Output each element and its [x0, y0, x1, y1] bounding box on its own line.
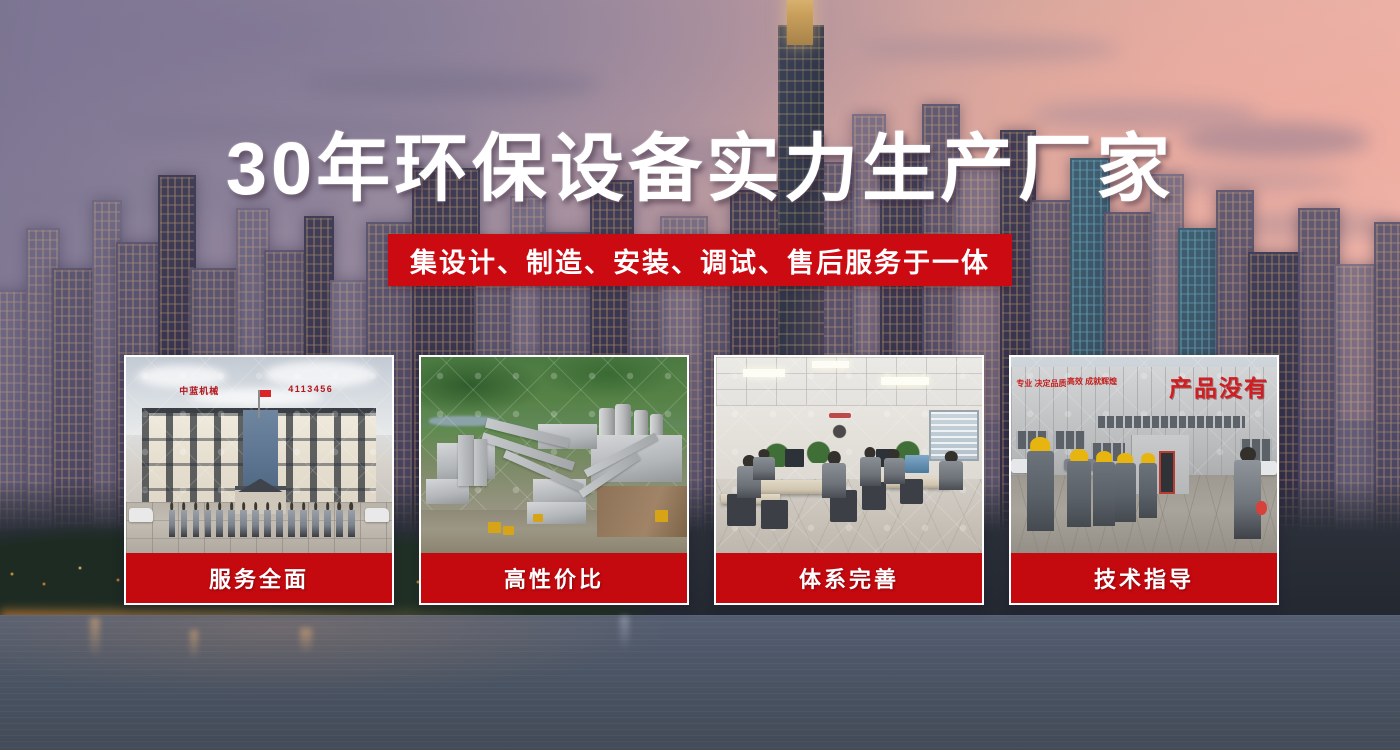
office-worker: [884, 449, 905, 484]
staff-member: [216, 502, 222, 537]
feature-card-row: 中蓝机械 4113456: [124, 355, 1279, 605]
office-chair: [727, 494, 756, 525]
card-label-bar: 技术指导: [1011, 553, 1277, 603]
flagpole: [258, 390, 260, 417]
staff-member: [324, 502, 330, 537]
staff-member: [264, 502, 270, 537]
factory-worker: [1139, 453, 1158, 518]
industrial-plant-aerial-photo: [421, 357, 687, 553]
factory-workers-photo: 产品没有 专业 决定品质 高效 成就辉煌: [1011, 357, 1277, 553]
staff-member: [193, 502, 199, 537]
factory-wall-slogan-small: 专业 决定品质: [1016, 379, 1066, 389]
subtitle-red-bar: 集设计、制造、安装、调试、售后服务于一体: [388, 234, 1012, 286]
feature-card-guidance[interactable]: 产品没有 专业 决定品质 高效 成就辉煌: [1009, 355, 1279, 605]
hero-banner: 30年环保设备实力生产厂家 集设计、制造、安装、调试、售后服务于一体: [0, 0, 1400, 750]
conveyor-tower: [474, 439, 487, 486]
card-label-text: 技术指导: [1094, 562, 1194, 594]
subtitle-text: 集设计、制造、安装、调试、售后服务于一体: [410, 241, 990, 280]
factory-worker: [1115, 453, 1136, 522]
worker-uniform: [1139, 463, 1158, 518]
office-chair: [862, 482, 886, 509]
river-water: [0, 615, 1400, 750]
staff-member: [300, 502, 306, 537]
subtitle-banner: 集设计、制造、安装、调试、售后服务于一体: [388, 234, 1012, 286]
feature-card-service[interactable]: 中蓝机械 4113456: [124, 355, 394, 605]
staff-member: [312, 502, 318, 537]
water-reflection: [190, 630, 198, 660]
staff-member: [252, 502, 258, 537]
page-title: 30年环保设备实力生产厂家: [0, 132, 1400, 206]
ceiling-light: [743, 369, 786, 377]
worker-uniform: [1093, 462, 1114, 525]
card-label-bar: 体系完善: [716, 553, 982, 603]
office-interior-photo: [716, 357, 982, 553]
clerestory-window-band: [1096, 416, 1245, 428]
ceiling-light: [812, 361, 849, 368]
parked-car: [129, 508, 153, 522]
water-reflection: [300, 628, 312, 654]
office-worker: [939, 451, 963, 490]
red-hard-hat: [1256, 501, 1267, 516]
worker-uniform: [1115, 463, 1136, 521]
factory-window: [1054, 431, 1086, 449]
staff-member: [169, 502, 175, 537]
building-signage-phone: 4113456: [288, 384, 333, 394]
monitor: [905, 455, 929, 473]
office-chair: [761, 500, 788, 529]
yellow-loader: [503, 526, 514, 536]
office-worker: [753, 449, 774, 480]
building-signage-logo: 中蓝机械: [179, 384, 219, 397]
tower-crown-lit: [787, 0, 813, 45]
factory-worker: [1027, 437, 1054, 531]
water-reflection: [620, 616, 629, 650]
card-label-text: 高性价比: [504, 562, 604, 594]
supervisor-uniform: [1234, 460, 1261, 539]
conveyor-tower: [458, 435, 474, 486]
factory-wall-slogan: 产品没有: [1169, 369, 1269, 403]
card-label-text: 体系完善: [799, 562, 899, 594]
card-label-text: 服务全面: [209, 562, 309, 594]
excavation-area: [597, 486, 687, 537]
staff-member: [336, 502, 342, 537]
factory-worker: [1093, 451, 1114, 525]
office-worker: [822, 451, 846, 498]
staff-member: [348, 502, 354, 537]
staff-lineup: [169, 502, 355, 537]
yellow-excavator: [655, 510, 668, 522]
feature-card-system[interactable]: 体系完善: [714, 355, 984, 605]
staff-member: [205, 502, 211, 537]
supervisor: [1234, 447, 1261, 539]
staff-member: [276, 502, 282, 537]
office-worker: [860, 447, 881, 486]
staff-member: [228, 502, 234, 537]
office-ceiling: [716, 357, 982, 408]
parked-car: [365, 508, 389, 522]
worker-uniform: [1067, 461, 1091, 528]
factory-wall-slogan-small: 高效 成就辉煌: [1067, 377, 1117, 387]
company-headquarters-photo: 中蓝机械 4113456: [126, 357, 392, 553]
yellow-loader: [488, 522, 501, 534]
feature-card-value[interactable]: 高性价比: [419, 355, 689, 605]
factory-side-door: [1159, 451, 1175, 494]
yellow-loader: [533, 514, 544, 522]
wall-decal: [822, 416, 857, 441]
ceiling-light: [881, 377, 929, 386]
card-label-bar: 高性价比: [421, 553, 687, 603]
water-reflection: [90, 618, 100, 658]
factory-worker: [1067, 449, 1091, 527]
card-label-bar: 服务全面: [126, 553, 392, 603]
staff-member: [288, 502, 294, 537]
staff-member: [240, 502, 246, 537]
worker-uniform: [1027, 451, 1054, 531]
staff-member: [181, 502, 187, 537]
monitor: [785, 449, 804, 467]
